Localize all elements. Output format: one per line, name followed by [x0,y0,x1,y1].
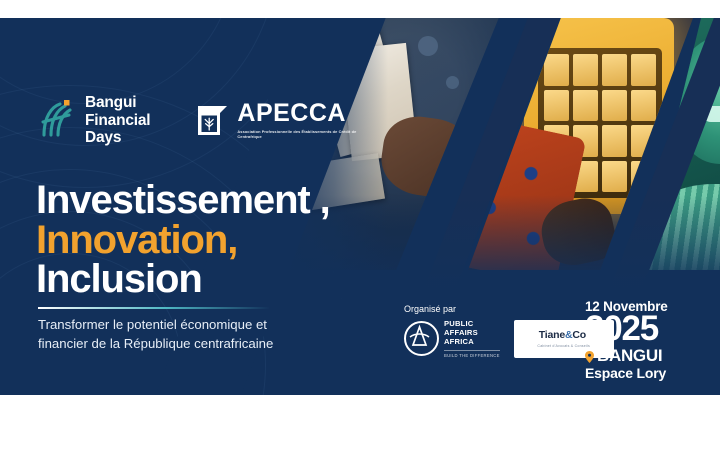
headline-line-1: Investissement , [36,181,330,221]
event-banner: Bangui Financial Days [0,18,720,395]
apecca-logo: APECCA Association Professionnelle des É… [196,101,357,140]
tiane-wordmark: Tiane&Co. [539,329,589,341]
banner-subtitle: Transformer le potentiel économique et f… [38,316,278,353]
organisers-logos: PUBLIC AFFAIRS AFRICA BUILD THE DIFFEREN… [404,320,614,358]
apecca-wordmark: APECCA [237,101,357,126]
event-venue: Espace Lory [585,365,668,381]
apecca-subtitle: Association Professionnelle des Établiss… [237,129,357,140]
event-date-location: 12 Novembre 2025 BANGUI Espace Lory [585,299,668,381]
public-affairs-africa-text: PUBLIC AFFAIRS AFRICA BUILD THE DIFFEREN… [444,320,500,358]
bangui-financial-days-wordmark: Bangui Financial Days [85,94,150,147]
event-city-row: BANGUI [585,346,668,366]
paa-tagline: BUILD THE DIFFERENCE [444,350,500,358]
event-city: BANGUI [597,346,662,366]
tiane-tagline: Cabinet d'Avocats & Conseils [537,344,590,348]
bfd-line-1: Bangui [85,94,150,112]
logo-row: Bangui Financial Days [38,94,357,147]
bfd-line-2: Financial [85,112,150,130]
bfd-line-3: Days [85,129,150,147]
bangui-financial-days-mark [38,100,76,140]
paa-line-3: AFRICA [444,338,500,347]
event-year: 2025 [585,313,668,345]
bangui-financial-days-logo: Bangui Financial Days [38,94,150,147]
public-affairs-africa-logo: PUBLIC AFFAIRS AFRICA BUILD THE DIFFEREN… [404,320,504,358]
organisers-label: Organisé par [404,304,614,314]
headline: Investissement , Innovation, Inclusion [36,181,330,300]
headline-line-2: Innovation, [36,221,330,261]
tiane-first: Tiane [539,329,565,341]
organisers-block: Organisé par PUBLIC AFFAIRS AFRICA BUILD… [404,304,614,358]
apecca-text-block: APECCA Association Professionnelle des É… [237,101,357,140]
headline-line-3: Inclusion [36,260,330,300]
apecca-tree-mark [196,104,229,137]
public-affairs-africa-mark [404,321,439,356]
location-pin-icon [585,350,594,362]
headline-divider [38,307,270,309]
